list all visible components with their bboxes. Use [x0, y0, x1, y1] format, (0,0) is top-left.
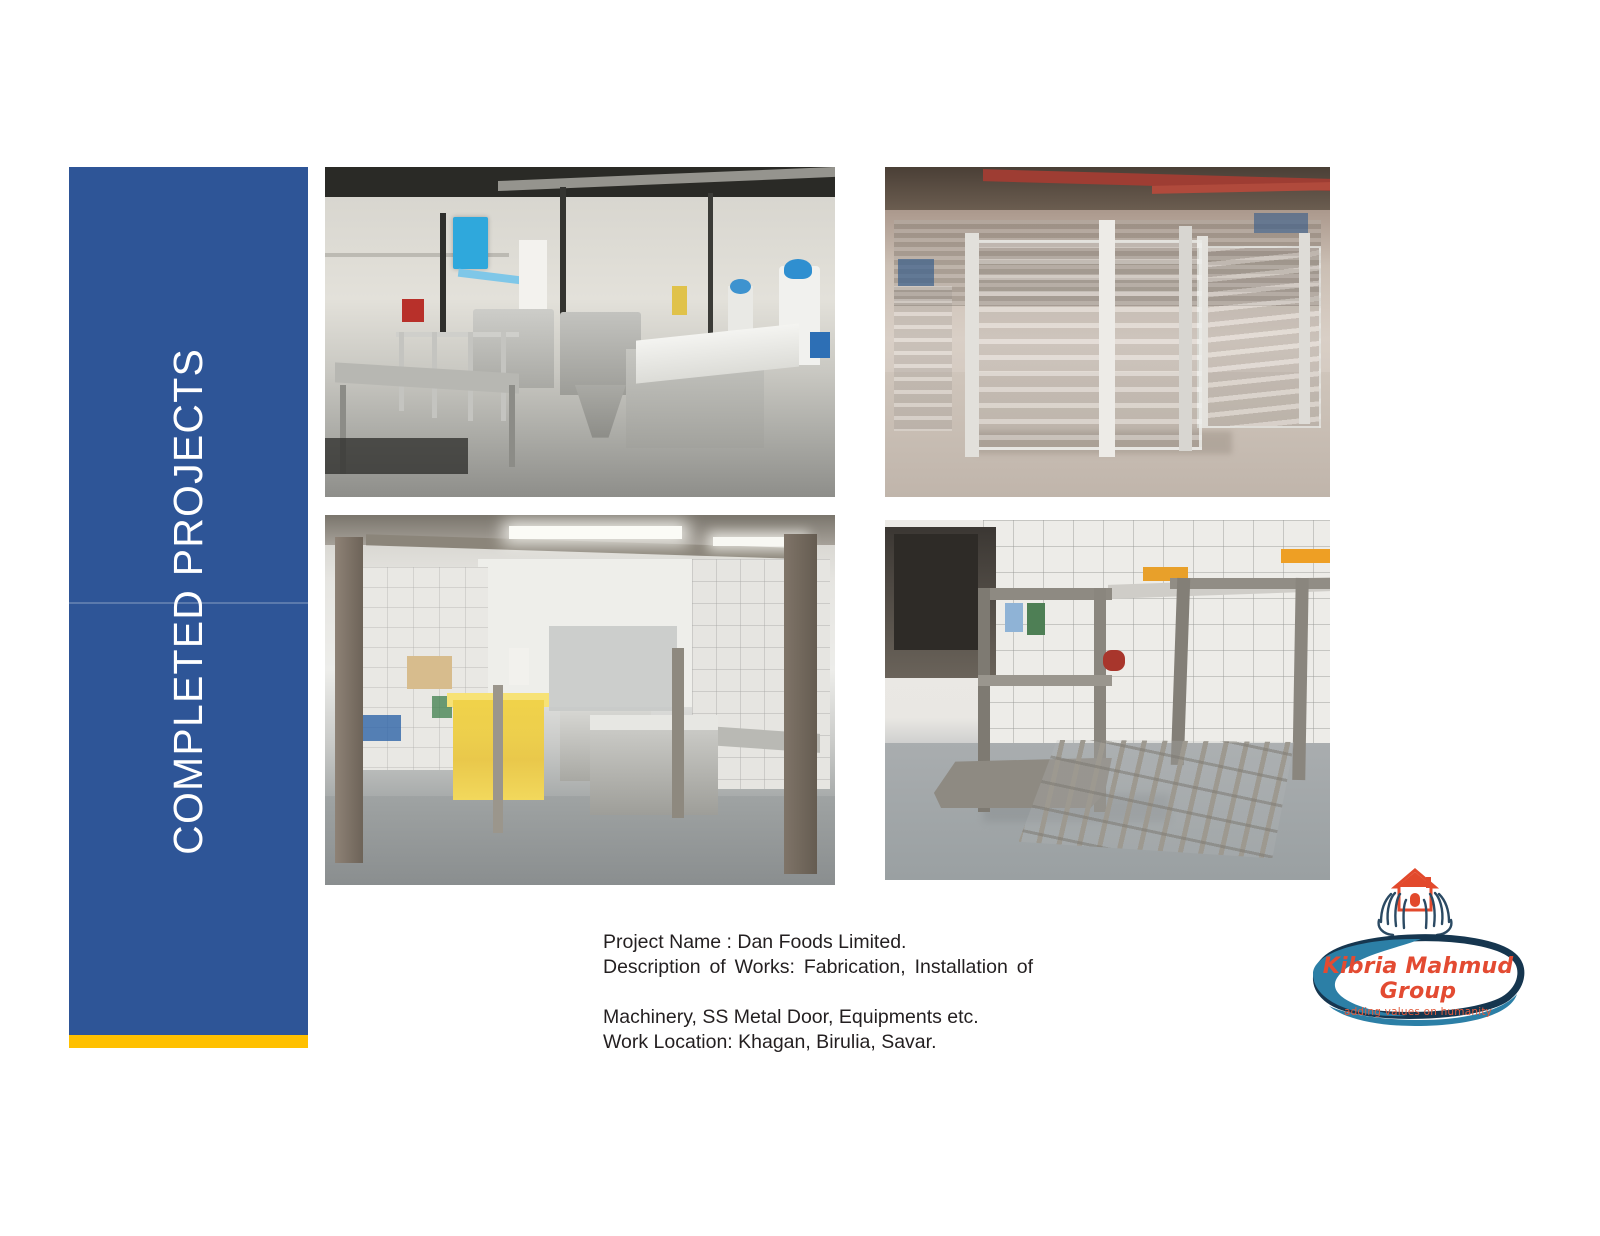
photo-scene	[885, 167, 1330, 497]
project-photo-bottom-right	[885, 520, 1330, 880]
project-photo-top-right	[885, 167, 1330, 497]
sidebar-accent-bar	[69, 1035, 308, 1048]
project-caption: Project Name : Dan Foods Limited. Descri…	[603, 930, 1033, 1055]
sidebar-title-container: COMPLETED PROJECTS	[69, 167, 308, 1035]
logo-company-name: Kibria Mahmud Group	[1303, 954, 1533, 1004]
company-logo: Kibria Mahmud Group adding values on hum…	[1303, 862, 1533, 1030]
slide-canvas: COMPLETED PROJECTS	[0, 0, 1600, 1236]
logo-text: Kibria Mahmud Group adding values on hum…	[1303, 954, 1533, 1018]
photo-scene	[885, 520, 1330, 880]
project-photo-top-left	[325, 167, 835, 497]
caption-work-location: Work Location: Khagan, Birulia, Savar.	[603, 1030, 1033, 1055]
project-photo-bottom-left	[325, 515, 835, 885]
sidebar-panel: COMPLETED PROJECTS	[69, 167, 308, 1035]
caption-project-name: Project Name : Dan Foods Limited.	[603, 930, 1033, 955]
photo-scene	[325, 515, 835, 885]
caption-description-line-1: Description of Works: Fabrication, Insta…	[603, 955, 1033, 1005]
page-title: COMPLETED PROJECTS	[168, 348, 209, 855]
house-in-hands-icon	[1373, 862, 1457, 936]
logo-tagline: adding values on humanity	[1303, 1006, 1533, 1018]
photo-scene	[325, 167, 835, 497]
caption-description-line-2: Machinery, SS Metal Door, Equipments etc…	[603, 1005, 1033, 1030]
